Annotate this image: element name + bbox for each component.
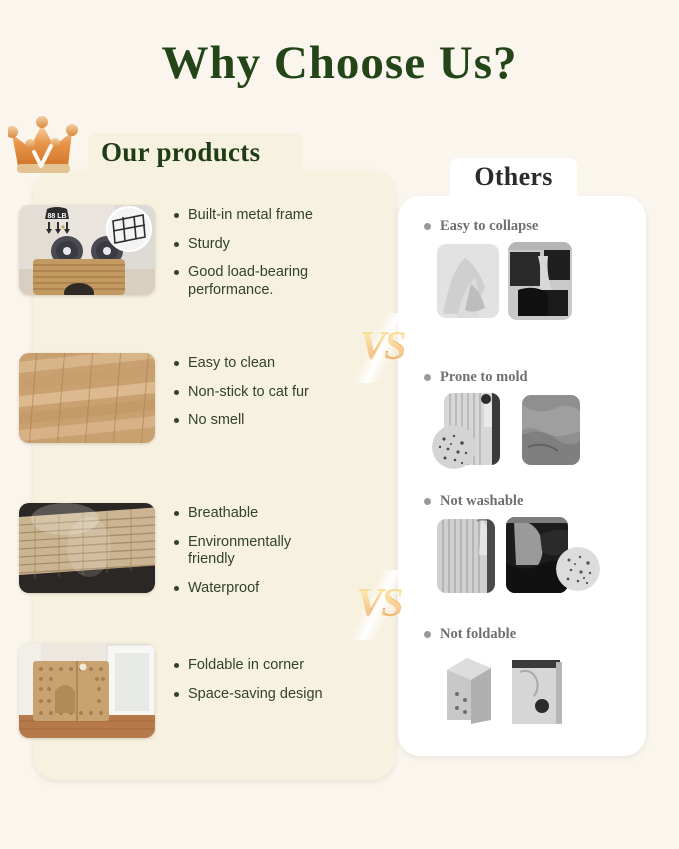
bullet-dot-icon (424, 223, 431, 230)
folded-rattan-litter-box-in-corner-photo (19, 643, 155, 738)
others-row-3: Not washable (398, 493, 646, 595)
bullet-text: Waterproof (188, 580, 259, 598)
bullet-item: No smell (174, 412, 309, 430)
bullet-dot-icon (424, 374, 431, 381)
vs-label: VS (347, 579, 411, 626)
bullet-item: Waterproof (174, 580, 314, 598)
product-row-3: Breathable Environmentally friendly Wate… (0, 503, 362, 609)
bullet-item: Foldable in corner (174, 657, 323, 675)
product-row-2: Easy to clean Non-stick to cat fur No sm… (0, 353, 362, 443)
bullet-text: Non-stick to cat fur (188, 384, 309, 402)
page-title: Why Choose Us? (0, 36, 679, 90)
product-row-4: Foldable in corner Space-saving design (0, 643, 362, 738)
bullet-dot-icon (174, 361, 179, 366)
bullet-item: Breathable (174, 505, 314, 523)
vs-badge-1: VS (350, 313, 414, 383)
bullet-item: Sturdy (174, 236, 324, 254)
bullet-item: Good load-bearing performance. (174, 264, 324, 299)
rattan-weave-breathable-photo (19, 503, 155, 593)
bullet-dot-icon (174, 213, 179, 218)
bullet-text: Foldable in corner (188, 657, 304, 675)
vs-badge-2: VS (347, 570, 411, 640)
others-label-text: Prone to mold (440, 369, 528, 386)
dirty-gray-surface-photo (522, 395, 580, 465)
bullet-text: No smell (188, 412, 244, 430)
bullet-dot-icon (174, 692, 179, 697)
woven-rattan-texture-closeup-photo (19, 353, 155, 443)
product-row-1-bullets: Built-in metal frame Sturdy Good load-be… (174, 205, 324, 311)
bullet-dot-icon (174, 586, 179, 591)
collapsed-black-fabric-box-photo (508, 242, 572, 320)
stained-striped-fabric-box-photo (437, 519, 495, 593)
others-row-4-thumbs (432, 650, 646, 728)
stained-black-fabric-box-photo (506, 517, 568, 593)
bullet-text: Breathable (188, 505, 258, 523)
bullet-dot-icon (174, 418, 179, 423)
our-products-header-label: Our products (88, 137, 260, 168)
others-row-2-thumbs (432, 393, 646, 471)
dirt-residue-closeup-photo (556, 547, 600, 591)
bullet-text: Built-in metal frame (188, 207, 313, 225)
our-products-header: Our products (88, 133, 303, 171)
others-row-4: Not foldable (398, 626, 646, 728)
bullet-text: Easy to clean (188, 355, 275, 373)
others-label-text: Not washable (440, 493, 523, 510)
bullet-item: Easy to clean (174, 355, 309, 373)
others-header-label: Others (474, 162, 552, 192)
bullet-dot-icon (174, 511, 179, 516)
others-header: Others (450, 158, 577, 196)
others-label-text: Not foldable (440, 626, 516, 643)
rattan-litter-box-with-dumbbells-photo: 88 LB (19, 205, 155, 295)
rigid-metal-box-photo (506, 654, 568, 724)
others-row-3-thumbs (432, 517, 646, 595)
svg-text:88 LB: 88 LB (47, 213, 66, 220)
crown-icon (8, 116, 90, 182)
bullet-text: Sturdy (188, 236, 230, 254)
bullet-dot-icon (424, 498, 431, 505)
others-row-1-label: Easy to collapse (424, 218, 646, 235)
others-row-4-label: Not foldable (424, 626, 646, 643)
others-row-1-thumbs (432, 242, 646, 320)
bullet-dot-icon (424, 631, 431, 638)
bullet-item: Space-saving design (174, 686, 323, 704)
others-row-3-label: Not washable (424, 493, 646, 510)
mold-spots-closeup-photo (432, 425, 476, 469)
bullet-item: Environmentally friendly (174, 534, 314, 569)
product-row-2-bullets: Easy to clean Non-stick to cat fur No sm… (174, 353, 309, 443)
bullet-dot-icon (174, 390, 179, 395)
product-row-1: 88 LB Built- (0, 205, 362, 311)
bullet-dot-icon (174, 270, 179, 275)
rigid-gray-box-photo (437, 654, 495, 724)
bullet-dot-icon (174, 540, 179, 545)
collapsed-white-fabric-box-photo (437, 244, 499, 318)
bullet-text: Space-saving design (188, 686, 323, 704)
others-row-2: Prone to mold (398, 369, 646, 471)
bullet-dot-icon (174, 242, 179, 247)
others-row-2-label: Prone to mold (424, 369, 646, 386)
product-row-3-bullets: Breathable Environmentally friendly Wate… (174, 503, 314, 609)
vs-label: VS (350, 322, 414, 369)
bullet-item: Built-in metal frame (174, 207, 324, 225)
bullet-text: Good load-bearing performance. (188, 264, 324, 299)
others-label-text: Easy to collapse (440, 218, 538, 235)
others-row-1: Easy to collapse (398, 218, 646, 320)
product-row-4-bullets: Foldable in corner Space-saving design (174, 643, 323, 738)
bullet-item: Non-stick to cat fur (174, 384, 309, 402)
bullet-text: Environmentally friendly (188, 534, 314, 569)
bullet-dot-icon (174, 663, 179, 668)
infographic-page: Why Choose Us? (0, 0, 679, 849)
